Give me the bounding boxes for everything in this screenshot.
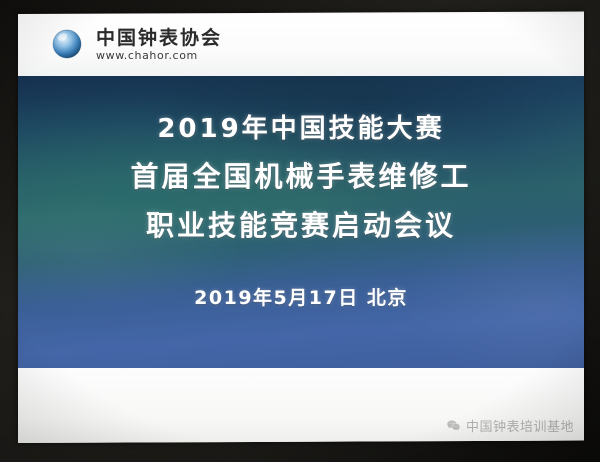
slide-title-line-3: 职业技能竞赛启动会议 [146, 212, 456, 240]
slide-text-block: 2019年中国技能大赛 首届全国机械手表维修工 职业技能竞赛启动会议 2019年… [18, 76, 584, 368]
slide-title-line-2: 首届全国机械手表维修工 [130, 163, 471, 191]
projection-screen-inner: 中国钟表协会 www.chahor.com 2019年中国技能大赛 首届全国机械… [18, 14, 584, 443]
slide-title-line-1: 2019年中国技能大赛 [157, 116, 444, 142]
slide-header-band: 中国钟表协会 www.chahor.com [18, 14, 584, 76]
logo-text-block: 中国钟表协会 www.chahor.com [96, 28, 222, 62]
slide-footer-band: 中国钟表培训基地 [18, 368, 584, 443]
slide-body: 2019年中国技能大赛 首届全国机械手表维修工 职业技能竞赛启动会议 2019年… [18, 76, 584, 368]
sphere-logo-icon [48, 26, 86, 64]
organization-website: www.chahor.com [96, 50, 222, 62]
watermark: 中国钟表培训基地 [446, 416, 574, 435]
organization-name: 中国钟表协会 [96, 28, 222, 49]
watermark-label: 中国钟表培训基地 [466, 416, 574, 435]
projector-photo-frame: 中国钟表协会 www.chahor.com 2019年中国技能大赛 首届全国机械… [0, 0, 600, 462]
wechat-icon [446, 418, 461, 433]
slide-date-location: 2019年5月17日 北京 [194, 283, 408, 310]
projection-screen: 中国钟表协会 www.chahor.com 2019年中国技能大赛 首届全国机械… [18, 12, 584, 443]
